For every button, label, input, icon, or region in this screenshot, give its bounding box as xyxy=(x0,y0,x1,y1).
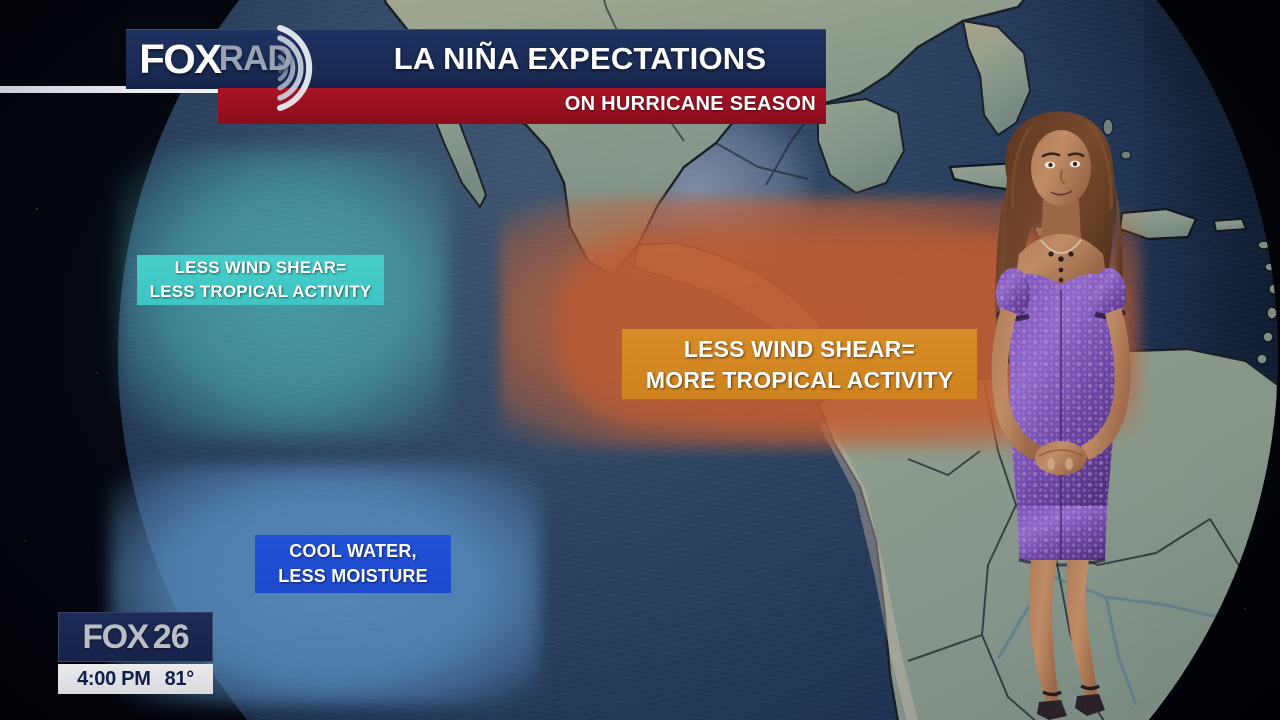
map-label-line2: LESS MOISTURE xyxy=(255,564,451,589)
map-label-less-tropical-activity: LESS WIND SHEAR= LESS TROPICAL ACTIVITY xyxy=(137,255,384,305)
map-label-line2: MORE TROPICAL ACTIVITY xyxy=(622,365,977,396)
broadcast-screen: FOX RAD LA NIÑA EXPECTATIONS ON HURRICAN… xyxy=(0,0,1280,720)
station-channel-number: 26 xyxy=(153,618,189,657)
map-label-line1: LESS WIND SHEAR= xyxy=(622,334,977,365)
station-call-sign: FOX xyxy=(82,618,147,657)
time-temp-bar: 4:00 PM 81° xyxy=(58,664,213,694)
foxrad-logo-fox: FOX xyxy=(139,36,220,83)
map-label-line2: LESS TROPICAL ACTIVITY xyxy=(137,280,384,304)
map-label-line1: LESS WIND SHEAR= xyxy=(137,256,384,280)
current-temperature: 81° xyxy=(165,668,194,691)
station-logo-bug: FOX 26 xyxy=(58,612,213,662)
subheadline-text: ON HURRICANE SEASON xyxy=(400,93,816,116)
current-time: 4:00 PM xyxy=(77,668,151,691)
map-label-cool-water: COOL WATER, LESS MOISTURE xyxy=(255,535,451,593)
foxrad-logo: FOX RAD xyxy=(140,36,292,82)
map-label-line1: COOL WATER, xyxy=(255,539,451,564)
headline-text: LA NIÑA EXPECTATIONS xyxy=(340,38,820,80)
foxrad-logo-rad: RAD xyxy=(219,39,292,79)
meteorologist xyxy=(955,108,1170,720)
map-label-more-tropical-activity: LESS WIND SHEAR= MORE TROPICAL ACTIVITY xyxy=(622,329,977,399)
